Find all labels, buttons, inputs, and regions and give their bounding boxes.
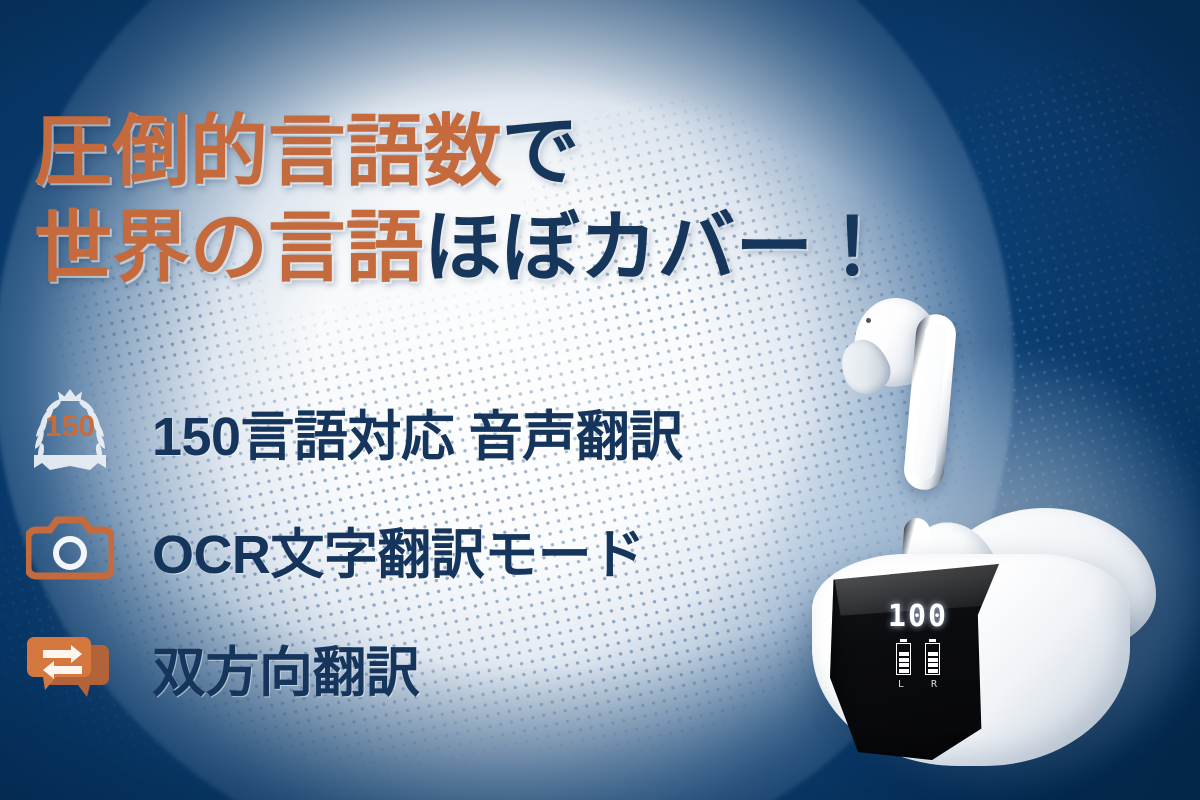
battery-bar-left <box>896 639 911 675</box>
battery-label-right: R <box>931 679 938 690</box>
floating-earbud <box>840 292 980 512</box>
headline-line-1: 圧倒的言語数で <box>34 112 864 192</box>
headline-line-1-tail: で <box>502 107 580 195</box>
headline-line-1-accent: 圧倒的言語数 <box>34 107 502 195</box>
feature-label-bidirectional: 双方向翻訳 <box>152 628 419 707</box>
product-image: 100 L <box>796 288 1200 774</box>
feature-list: 150 150言語対応 音声翻訳 OCR文字翻訳モード <box>14 372 814 726</box>
earbud-microphone-dot <box>866 318 871 323</box>
battery-bar-right <box>925 639 940 675</box>
camera-icon <box>14 497 126 601</box>
battery-bar-right-cap <box>929 639 936 642</box>
feature-label-ocr: OCR文字翻訳モード <box>152 510 645 589</box>
battery-bar-left-cap <box>900 639 907 642</box>
battery-channel-labels: L R <box>868 679 968 690</box>
product-banner: 圧倒的言語数で 世界の言語ほぼカバー！ <box>0 0 1200 800</box>
feature-row-languages: 150 150言語対応 音声翻訳 <box>14 372 814 490</box>
headline-line-2-accent: 世界の言語 <box>34 203 424 291</box>
feature-row-bidirectional: 双方向翻訳 <box>14 608 814 726</box>
laurel-wreath-badge-icon: 150 <box>14 379 126 483</box>
charging-case: 100 L <box>812 498 1182 766</box>
bidirectional-chat-icon <box>14 615 126 719</box>
laurel-badge-value: 150 <box>45 410 95 443</box>
battery-bar-left-bars <box>896 643 911 675</box>
led-battery-display: 100 L <box>868 602 968 690</box>
headline-line-2-tail: ほぼカバー！ <box>424 203 892 291</box>
battery-label-left: L <box>898 679 905 690</box>
battery-bar-group <box>868 639 968 675</box>
headline: 圧倒的言語数で 世界の言語ほぼカバー！ <box>34 112 864 287</box>
headline-line-2: 世界の言語ほぼカバー！ <box>34 208 864 288</box>
feature-label-languages: 150言語対応 音声翻訳 <box>152 392 683 471</box>
feature-row-ocr: OCR文字翻訳モード <box>14 490 814 608</box>
battery-percent-value: 100 <box>868 602 968 632</box>
battery-bar-right-bars <box>925 643 940 675</box>
